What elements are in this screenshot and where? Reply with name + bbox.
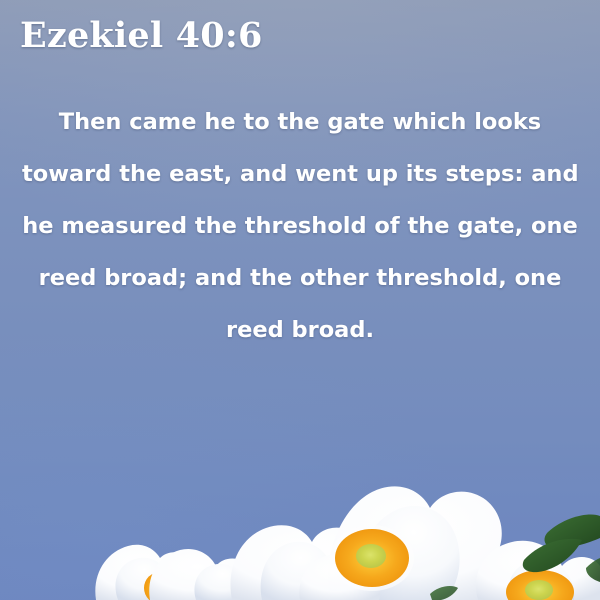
verse-line: he measured the threshold of the gate, o…	[22, 200, 578, 252]
verse-image-canvas: Ezekiel 40:6 Then came he to the gate wh…	[0, 0, 600, 600]
verse-text-block: Then came he to the gate which looks tow…	[22, 96, 578, 356]
verse-line: Then came he to the gate which looks	[22, 96, 578, 148]
verse-line: reed broad; and the other threshold, one	[22, 252, 578, 304]
flower-photo-layer	[0, 410, 600, 600]
verse-line: toward the east, and went up its steps: …	[22, 148, 578, 200]
flower-center-stamens	[330, 525, 414, 591]
verse-reference-title: Ezekiel 40:6	[20, 16, 263, 56]
verse-line: reed broad.	[22, 304, 578, 356]
